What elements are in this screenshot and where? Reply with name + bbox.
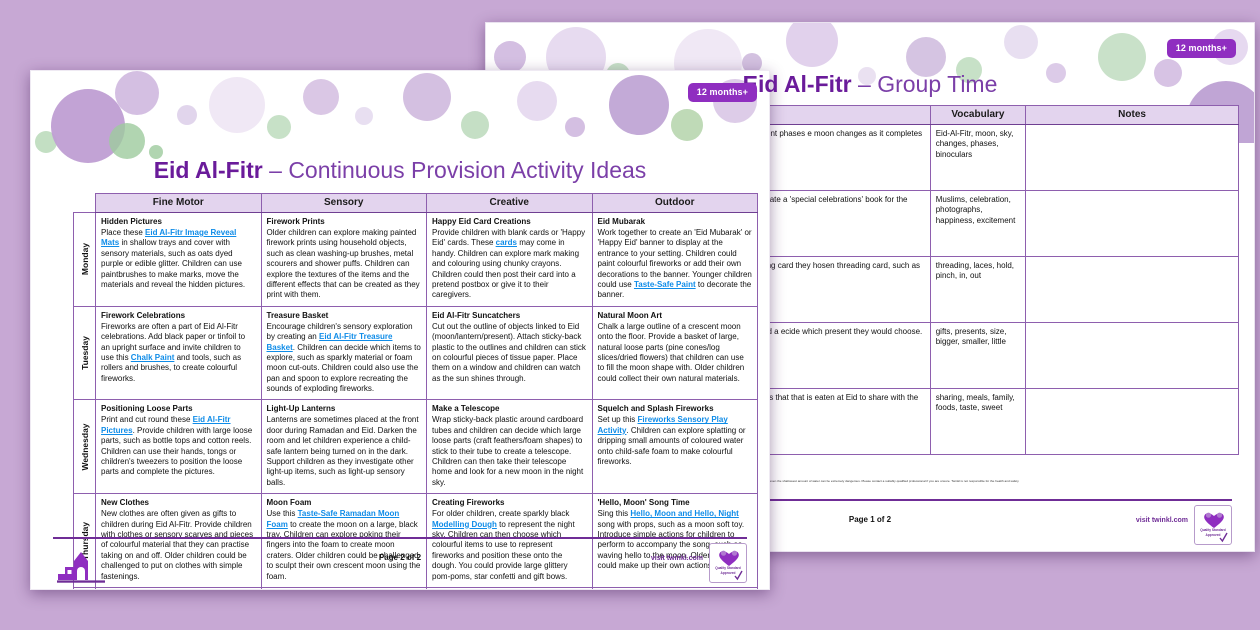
activity-title: Firework Celebrations xyxy=(101,311,256,321)
activity-body: Wrap sticky-back plastic around cardboar… xyxy=(432,415,587,488)
activity-title: Light-Up Lanterns xyxy=(267,404,422,414)
back-page-title: Eid Al-Fitr – Group Time xyxy=(486,71,1254,98)
front-title-bold: Eid Al-Fitr xyxy=(154,157,263,183)
activity-body: Fireworks are often a part of Eid Al-Fit… xyxy=(101,322,256,384)
bubble xyxy=(109,123,145,159)
activity-title: Firework Prints xyxy=(267,217,422,227)
bubble xyxy=(35,131,57,153)
vocabulary-cell: Muslims, celebration, photographs, happi… xyxy=(930,191,1025,257)
resource-link[interactable]: Eid Al-Fitr Image Reveal Mats xyxy=(101,228,236,247)
activity-cell: Happy Eid Card CreationsProvide children… xyxy=(427,213,593,307)
activity-title: Treasure Basket xyxy=(267,311,422,321)
activity-body: Lanterns are sometimes placed at the fro… xyxy=(267,415,422,488)
col-fine-motor: Fine Motor xyxy=(96,194,262,213)
activity-title: New Clothes xyxy=(101,498,256,508)
heart-icon xyxy=(717,549,741,567)
bubble xyxy=(51,89,125,163)
age-badge-front: 12 months+ xyxy=(688,83,757,102)
bubble xyxy=(1004,25,1038,59)
visit-link-front[interactable]: visit twinkl.com xyxy=(651,555,703,562)
activity-cell: Light-Up LanternsLanterns are sometimes … xyxy=(261,400,427,494)
vocabulary-cell: gifts, presents, size, bigger, smaller, … xyxy=(930,323,1025,389)
resource-link[interactable]: Taste-Safe Ramadan Moon Foam xyxy=(267,509,400,528)
activity-title: Eid Mubarak xyxy=(598,217,753,227)
activity-body: Cut out the outline of objects linked to… xyxy=(432,322,587,384)
day-label: Tuesday xyxy=(80,336,90,370)
bubble xyxy=(177,105,197,125)
vocabulary-cell: Eid-Al-Fitr, moon, sky, changes, phases,… xyxy=(930,125,1025,191)
activity-title: Happy Eid Card Creations xyxy=(432,217,587,227)
activity-cell: Eid Al-Fitr SuncatchersCut out the outli… xyxy=(427,306,593,400)
bubble xyxy=(461,111,489,139)
resource-link[interactable]: Fireworks Sensory Play Activity xyxy=(598,415,728,434)
resource-link[interactable]: Taste-Safe Paint xyxy=(634,280,696,289)
front-footer: Page 2 of 2 visit twinkl.com Quality Sta… xyxy=(31,537,769,589)
col-notes: Notes xyxy=(1026,106,1239,125)
front-title-thin: Continuous Provision Activity Ideas xyxy=(288,157,646,183)
activity-cell: Firework PrintsOlder children can explor… xyxy=(261,213,427,307)
activity-cell: Firework CelebrationsFireworks are often… xyxy=(96,306,262,400)
bubble xyxy=(403,73,451,121)
activity-body: Chalk a large outline of a crescent moon… xyxy=(598,322,753,384)
notes-cell[interactable] xyxy=(1026,125,1239,191)
vocabulary-cell: threading, laces, hold, pinch, in, out xyxy=(930,257,1025,323)
bubble xyxy=(671,109,703,141)
front-title-dash: – xyxy=(263,157,289,183)
activity-body: Set up this Fireworks Sensory Play Activ… xyxy=(598,415,753,467)
activity-title: Eid Al-Fitr Suncatchers xyxy=(432,311,587,321)
resource-link[interactable]: Modelling Dough xyxy=(432,520,497,529)
bubble xyxy=(303,79,339,115)
twinkl-logo-back: Quality Standard Approved xyxy=(1194,505,1232,545)
tick-icon xyxy=(734,570,743,581)
activity-body: Place these Eid Al-Fitr Image Reveal Mat… xyxy=(101,228,256,290)
bubble xyxy=(355,107,373,125)
bubble xyxy=(209,77,265,133)
resource-link[interactable]: Eid Al-Fitr Treasure Basket xyxy=(267,332,393,351)
col-outdoor: Outdoor xyxy=(592,194,758,213)
activity-title: Moon Foam xyxy=(267,498,422,508)
activity-cell: Treasure BasketEncourage children's sens… xyxy=(261,306,427,400)
day-label-cell: Wednesday xyxy=(74,400,96,494)
continuous-provision-page[interactable]: 12 months+ Eid Al-Fitr – Continuous Prov… xyxy=(30,70,770,590)
activity-title: Squelch and Splash Fireworks xyxy=(598,404,753,414)
table-row: MondayHidden PicturesPlace these Eid Al-… xyxy=(74,213,758,307)
activity-table-wrap: Fine Motor Sensory Creative Outdoor Mond… xyxy=(73,193,758,590)
resource-link[interactable]: Eid Al-Fitr Pictures xyxy=(101,415,231,434)
twinkl-logo-front: Quality Standard Approved xyxy=(709,543,747,583)
notes-cell[interactable] xyxy=(1026,257,1239,323)
activity-body: Provide children with blank cards or 'Ha… xyxy=(432,228,587,301)
col-vocabulary: Vocabulary xyxy=(930,106,1025,125)
visit-link-back[interactable]: visit twinkl.com xyxy=(1136,517,1188,524)
back-title-thin: Group Time xyxy=(877,71,997,97)
resource-link[interactable]: Hello, Moon and Hello, Night xyxy=(630,509,738,518)
col-sensory: Sensory xyxy=(261,194,427,213)
bubble xyxy=(494,41,526,73)
resource-link[interactable]: Chalk Paint xyxy=(131,353,175,362)
activity-cell: Squelch and Splash FireworksSet up this … xyxy=(592,400,758,494)
heart-icon xyxy=(1202,511,1226,529)
front-page-title: Eid Al-Fitr – Continuous Provision Activ… xyxy=(31,157,769,184)
day-label-cell: Tuesday xyxy=(74,306,96,400)
activity-title: Creating Fireworks xyxy=(432,498,587,508)
activity-title: Natural Moon Art xyxy=(598,311,753,321)
activity-title: Make a Telescope xyxy=(432,404,587,414)
back-title-dash: – xyxy=(852,71,878,97)
day-label: Wednesday xyxy=(80,423,90,470)
col-creative: Creative xyxy=(427,194,593,213)
age-badge-back: 12 months+ xyxy=(1167,39,1236,58)
vocabulary-cell: sharing, meals, family, foods, taste, sw… xyxy=(930,389,1025,455)
activity-body: Encourage children's sensory exploration… xyxy=(267,322,422,395)
activity-title: Hidden Pictures xyxy=(101,217,256,227)
activity-cell: Eid MubarakWork together to create an 'E… xyxy=(592,213,758,307)
col-day-blank xyxy=(74,194,96,213)
activity-cell: Positioning Loose PartsPrint and cut rou… xyxy=(96,400,262,494)
notes-cell[interactable] xyxy=(1026,389,1239,455)
table-header-row: Fine Motor Sensory Creative Outdoor xyxy=(74,194,758,213)
table-row: TuesdayFirework CelebrationsFireworks ar… xyxy=(74,306,758,400)
bubble xyxy=(115,71,159,115)
resource-link[interactable]: cards xyxy=(496,238,517,247)
day-label-cell: Monday xyxy=(74,213,96,307)
notes-cell[interactable] xyxy=(1026,323,1239,389)
back-title-bold: Eid Al-Fitr xyxy=(743,71,852,97)
tick-icon xyxy=(1219,532,1228,543)
activity-cell: Make a TelescopeWrap sticky-back plastic… xyxy=(427,400,593,494)
activity-title: 'Hello, Moon' Song Time xyxy=(598,498,753,508)
notes-cell[interactable] xyxy=(1026,191,1239,257)
bubble xyxy=(565,117,585,137)
activity-body: Work together to create an 'Eid Mubarak'… xyxy=(598,228,753,301)
activity-cell: Natural Moon ArtChalk a large outline of… xyxy=(592,306,758,400)
activity-body: Older children can explore making painte… xyxy=(267,228,422,301)
day-label: Monday xyxy=(80,243,90,275)
activity-body: Print and cut round these Eid Al-Fitr Pi… xyxy=(101,415,256,477)
bubble xyxy=(267,115,291,139)
activity-title: Positioning Loose Parts xyxy=(101,404,256,414)
activity-table: Fine Motor Sensory Creative Outdoor Mond… xyxy=(73,193,758,590)
activity-cell: Hidden PicturesPlace these Eid Al-Fitr I… xyxy=(96,213,262,307)
bubble xyxy=(786,23,838,67)
table-row: WednesdayPositioning Loose PartsPrint an… xyxy=(74,400,758,494)
